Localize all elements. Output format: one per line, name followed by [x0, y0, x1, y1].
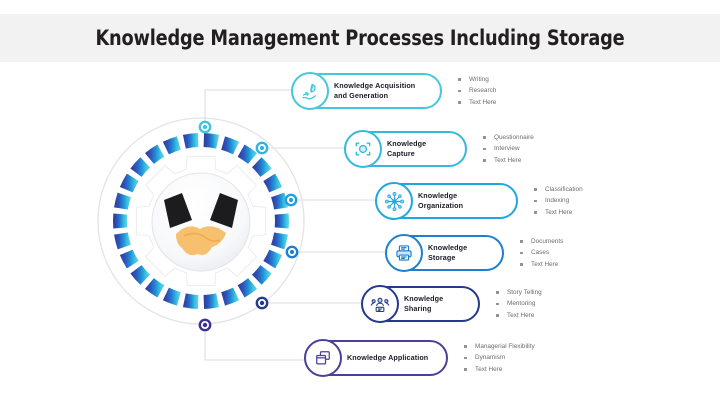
- bullet-list-capture: Questionnaire Interview Text Here: [483, 132, 534, 167]
- bullet-item: Text Here: [496, 310, 542, 322]
- gear-segment: [252, 265, 272, 285]
- pill-knowledge-capture[interactable]: Knowledge Capture: [345, 131, 467, 167]
- pill-knowledge-acquisition[interactable]: Knowledge Acquisition and Generation: [292, 73, 442, 109]
- gear-segment: [275, 213, 289, 228]
- gear-segment: [263, 250, 282, 269]
- bullet-list-application: Managerial Flexibility Dynamism Text Her…: [464, 341, 535, 376]
- process-row-application[interactable]: Knowledge Application Managerial Flexibi…: [305, 340, 535, 376]
- gear-segment: [252, 157, 272, 177]
- gear-segment: [114, 232, 131, 249]
- gear-segment: [221, 288, 239, 306]
- bullet-item: Indexing: [534, 195, 583, 207]
- pill-label: Knowledge Sharing: [404, 294, 464, 313]
- gear-segment: [238, 278, 257, 297]
- bullet-item: Documents: [520, 236, 563, 248]
- bullet-item: Questionnaire: [483, 132, 534, 144]
- bullet-item: Mentoring: [496, 298, 542, 310]
- pill-knowledge-application[interactable]: Knowledge Application: [305, 340, 448, 376]
- gear-segment: [271, 193, 288, 210]
- gear-segment: [120, 174, 139, 193]
- bullet-item: Classification: [534, 184, 583, 196]
- bullet-item: Text Here: [520, 259, 563, 271]
- bullet-item: Cases: [520, 247, 563, 259]
- bullet-item: Research: [458, 85, 496, 97]
- bullet-list-organization: Classification Indexing Text Here: [534, 184, 583, 219]
- slide-canvas: Knowledge Management Processes Including…: [0, 0, 720, 404]
- bullet-item: Interview: [483, 143, 534, 155]
- pill-label: Knowledge Organization: [418, 191, 502, 210]
- process-row-organization[interactable]: Knowledge Organization Classification In…: [376, 183, 583, 219]
- gear-segment: [204, 293, 219, 309]
- windows-stack-icon: [304, 339, 342, 377]
- gear-segment: [221, 136, 239, 154]
- gear-segment: [263, 174, 282, 193]
- gear-segment: [114, 193, 131, 210]
- bullet-list-storage: Documents Cases Text Here: [520, 236, 563, 271]
- bullet-list-sharing: Story Telling Mentoring Text Here: [496, 287, 542, 322]
- pill-label: Knowledge Acquisition and Generation: [334, 81, 415, 100]
- gear-segment: [120, 250, 139, 269]
- pill-label: Knowledge Capture: [387, 139, 451, 158]
- pill-knowledge-storage[interactable]: Knowledge Storage: [386, 235, 504, 271]
- gear-segment: [183, 293, 198, 309]
- page-title: Knowledge Management Processes Including…: [22, 14, 699, 62]
- bullet-item: Text Here: [458, 97, 496, 109]
- process-row-acquisition[interactable]: Knowledge Acquisition and Generation Wri…: [292, 73, 496, 109]
- gear-segment: [130, 265, 150, 285]
- bullet-item: Text Here: [534, 207, 583, 219]
- bullet-item: Story Telling: [496, 287, 542, 299]
- bullet-item: Dynamism: [464, 352, 535, 364]
- knowledge-wheel-graphic: [96, 116, 306, 326]
- gear-segment: [163, 136, 181, 154]
- gear-segment: [145, 278, 164, 297]
- gear-segment: [163, 288, 181, 306]
- pill-knowledge-sharing[interactable]: Knowledge Sharing: [362, 286, 480, 322]
- people-sharing-icon: [361, 285, 399, 323]
- bullet-item: Writing: [458, 74, 496, 86]
- gear-segment: [113, 213, 127, 228]
- gear-segment: [271, 232, 288, 249]
- gear-segment: [204, 133, 219, 149]
- process-row-storage[interactable]: Knowledge Storage Documents Cases Text H…: [386, 235, 563, 271]
- gear-segment: [183, 133, 198, 149]
- bullet-item: Managerial Flexibility: [464, 341, 535, 353]
- gear-segment: [238, 145, 257, 164]
- bullet-item: Text Here: [483, 155, 534, 167]
- process-row-sharing[interactable]: Knowledge Sharing Story Telling Mentorin…: [362, 286, 542, 322]
- pill-knowledge-organization[interactable]: Knowledge Organization: [376, 183, 518, 219]
- plant-hand-icon: [291, 72, 329, 110]
- network-nodes-icon: [375, 182, 413, 220]
- pill-label: Knowledge Application: [347, 353, 428, 363]
- pill-label: Knowledge Storage: [428, 243, 488, 262]
- process-row-capture[interactable]: Knowledge Capture Questionnaire Intervie…: [345, 131, 534, 167]
- bullet-item: Text Here: [464, 364, 535, 376]
- focus-frame-icon: [344, 130, 382, 168]
- gear-segment: [130, 157, 150, 177]
- bullet-list-acquisition: Writing Research Text Here: [458, 74, 496, 109]
- gear-segment: [145, 145, 164, 164]
- printer-archive-icon: [385, 234, 423, 272]
